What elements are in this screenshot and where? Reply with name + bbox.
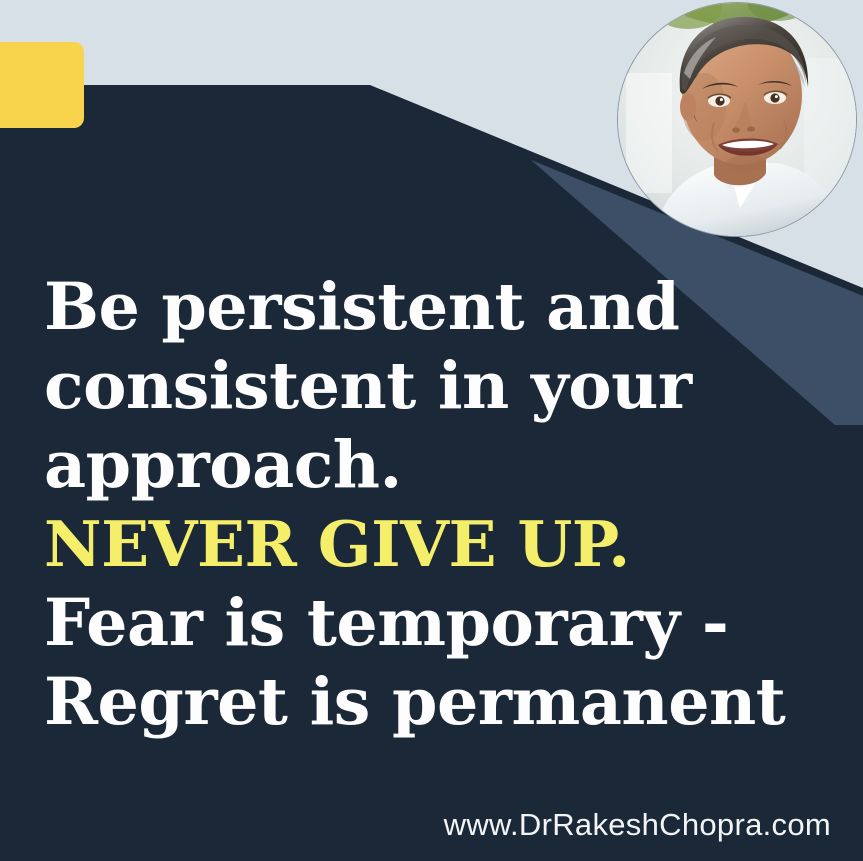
quote-line-3: approach. xyxy=(44,426,844,505)
quote-card: Be persistent and consistent in your app… xyxy=(0,0,863,861)
quote-text: Be persistent and consistent in your app… xyxy=(44,268,844,742)
yellow-accent-block xyxy=(0,42,84,128)
website-url[interactable]: www.DrRakeshChopra.com xyxy=(444,807,831,843)
quote-line-6: Regret is permanent xyxy=(44,663,844,742)
quote-line-4-highlight: NEVER GIVE UP. xyxy=(44,505,844,584)
quote-line-1: Be persistent and xyxy=(44,268,844,347)
avatar xyxy=(618,3,856,236)
quote-line-5: Fear is temporary - xyxy=(44,584,844,663)
quote-line-2: consistent in your xyxy=(44,347,844,426)
